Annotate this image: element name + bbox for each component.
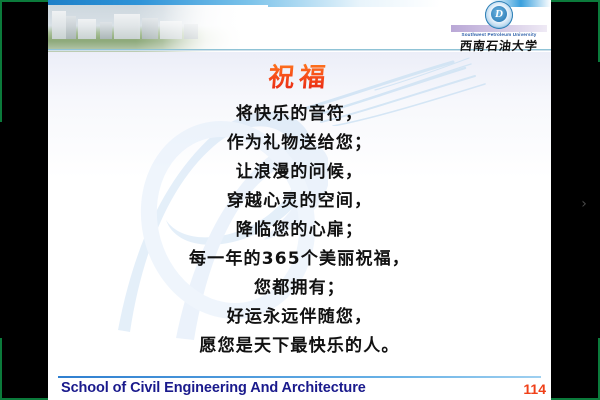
university-seal-icon: D: [485, 1, 513, 29]
poem-container: 祝福 将快乐的音符， 作为礼物送给您； 让浪漫的问候， 穿越心灵的空间， 降临您…: [48, 52, 551, 368]
campus-photo-fade: [48, 5, 268, 52]
university-logo: D Southwest Petroleum University 西南石油大学: [451, 1, 547, 49]
slideshow-viewer: › D: [0, 0, 600, 400]
next-slide-arrow-icon[interactable]: ›: [578, 196, 590, 212]
poem-lines: 将快乐的音符， 作为礼物送给您； 让浪漫的问候， 穿越心灵的空间， 降临您的心扉…: [48, 100, 551, 361]
slide-header: D Southwest Petroleum University 西南石油大学: [48, 0, 551, 52]
slide-footer: School of Civil Engineering And Architec…: [48, 368, 551, 400]
presentation-slide: D Southwest Petroleum University 西南石油大学: [48, 0, 551, 400]
seal-inner-disc: D: [491, 6, 507, 22]
footer-divider-line: [58, 376, 541, 378]
poem-line: 让浪漫的问候，: [48, 158, 551, 187]
university-chinese-name: 西南石油大学: [450, 37, 548, 52]
poem-line: 降临您的心扉；: [48, 216, 551, 245]
viewer-border-top-left: [0, 0, 48, 2]
seal-letter: D: [491, 6, 507, 22]
poem-line: 好运永远伴随您，: [48, 303, 551, 332]
viewer-border-left-lower: [0, 338, 2, 400]
poem-line: 愿您是天下最快乐的人。: [48, 332, 551, 361]
viewer-border-left-upper: [0, 0, 2, 122]
poem-line: 将快乐的音符，: [48, 100, 551, 129]
poem-line: 穿越心灵的空间，: [48, 187, 551, 216]
slide-body: 祝福 将快乐的音符， 作为礼物送给您； 让浪漫的问候， 穿越心灵的空间， 降临您…: [48, 52, 551, 368]
viewer-border-top-right: [551, 0, 600, 2]
slide-page-number: 114: [523, 381, 546, 397]
poem-line: 每一年的365个美丽祝福，: [48, 245, 551, 274]
footer-school-name: School of Civil Engineering And Architec…: [61, 380, 366, 396]
poem-line: 您都拥有；: [48, 274, 551, 303]
slide-title: 祝福: [48, 57, 551, 94]
poem-line: 作为礼物送给您；: [48, 129, 551, 158]
